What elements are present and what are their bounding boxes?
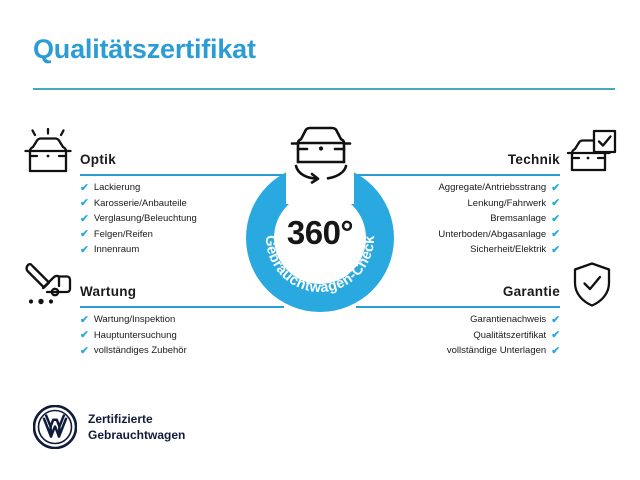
list-item: ✔Hauptuntersuchung (80, 328, 272, 344)
volkswagen-logo (33, 405, 77, 449)
list-item-label: Lackierung (94, 180, 140, 196)
section-header: Wartung (22, 260, 272, 312)
section-title: Garantie (503, 284, 560, 299)
check-icon: ✔ (551, 214, 560, 225)
car-checkbox-icon (566, 128, 618, 178)
check-icon: ✔ (551, 346, 560, 357)
list-item: ✔vollständiges Zubehör (80, 343, 272, 359)
check-icon: ✔ (80, 183, 89, 194)
list-item-label: Wartung/Inspektion (94, 312, 176, 328)
shield-check-icon (566, 260, 618, 310)
footer-brand: Zertifizierte Gebrauchtwagen (33, 405, 185, 449)
list-item-label: Aggregate/Antriebsstrang (438, 180, 546, 196)
check-icon: ✔ (80, 229, 89, 240)
list-item-label: Unterboden/Abgasanlage (438, 227, 546, 243)
section-garantie: Garantie Garantienachweis✔ Qualitätszert… (368, 260, 618, 359)
list-item: Qualitätszertifikat✔ (368, 328, 560, 344)
list-item-label: Lenkung/Fahrwerk (468, 196, 547, 212)
list-item-label: Garantienachweis (470, 312, 546, 328)
check-icon: ✔ (80, 330, 89, 341)
list-item-label: Innenraum (94, 242, 139, 258)
section-wartung: Wartung ✔Wartung/Inspektion ✔Hauptunters… (22, 260, 272, 359)
section-optik: Optik ✔Lackierung ✔Karosserie/Anbauteile… (22, 128, 272, 258)
list-item-label: Bremsanlage (490, 211, 546, 227)
footer-line-2: Gebrauchtwagen (88, 427, 185, 443)
check-icon: ✔ (80, 198, 89, 209)
check-icon: ✔ (80, 245, 89, 256)
section-header: Garantie (368, 260, 618, 312)
footer-text: Zertifizierte Gebrauchtwagen (88, 411, 185, 443)
list-item-label: Hauptuntersuchung (94, 328, 177, 344)
check-icon: ✔ (551, 183, 560, 194)
list-item-label: Verglasung/Beleuchtung (94, 211, 197, 227)
list-item-label: Felgen/Reifen (94, 227, 153, 243)
list-item-label: Sicherheit/Elektrik (470, 242, 546, 258)
section-header: Optik (22, 128, 272, 180)
check-icon: ✔ (80, 315, 89, 326)
certificate-page: Qualitätszertifikat Optik (0, 0, 640, 480)
section-header: Technik (368, 128, 618, 180)
section-title: Wartung (80, 284, 136, 299)
check-icon: ✔ (551, 245, 560, 256)
check-icon: ✔ (551, 229, 560, 240)
page-title: Qualitätszertifikat (33, 34, 256, 65)
check-icon: ✔ (551, 330, 560, 341)
list-item: vollständige Unterlagen✔ (368, 343, 560, 359)
check-icon: ✔ (80, 346, 89, 357)
footer-line-1: Zertifizierte (88, 411, 185, 427)
section-technik: Technik Aggregate/Antriebsstrang✔ Lenkun… (368, 128, 618, 258)
check-icon: ✔ (551, 315, 560, 326)
car-shine-icon (22, 128, 74, 178)
car-rotation-icon (283, 122, 359, 184)
checklist-wartung: ✔Wartung/Inspektion ✔Hauptuntersuchung ✔… (80, 312, 272, 359)
list-item-label: vollständiges Zubehör (94, 343, 187, 359)
header-divider (33, 88, 615, 90)
list-item-label: vollständige Unterlagen (447, 343, 546, 359)
checklist-garantie: Garantienachweis✔ Qualitätszertifikat✔ v… (368, 312, 560, 359)
list-item-label: Qualitätszertifikat (473, 328, 546, 344)
wrench-car-icon (22, 260, 74, 310)
check-icon: ✔ (80, 214, 89, 225)
section-title: Optik (80, 152, 116, 167)
gebrauchtwagen-check-badge: Gebrauchtwagen-Check 360° (240, 158, 400, 318)
check-icon: ✔ (551, 198, 560, 209)
section-title: Technik (508, 152, 560, 167)
list-item-label: Karosserie/Anbauteile (94, 196, 187, 212)
badge-center-label: 360° (240, 214, 400, 252)
